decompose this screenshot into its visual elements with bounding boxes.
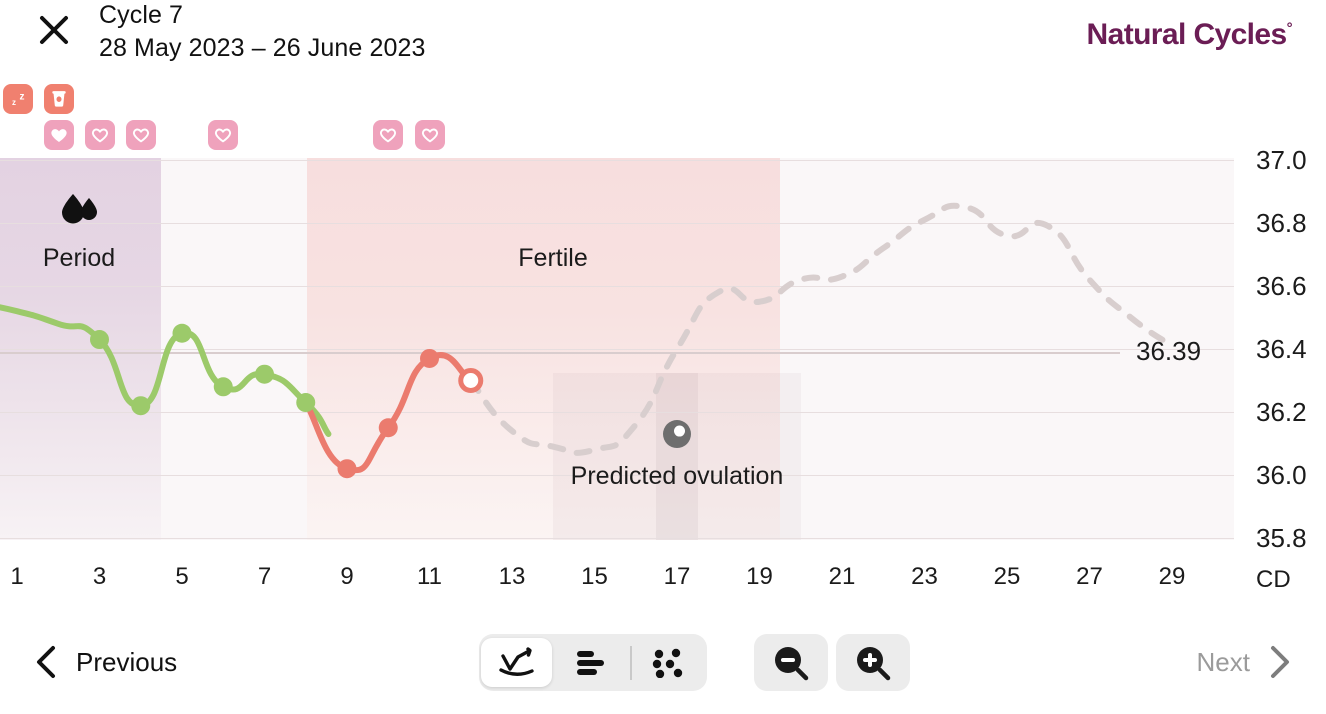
x-axis-tick: 15 [581, 563, 608, 591]
bars-view-button[interactable] [556, 638, 627, 687]
region-label-period: Period [43, 244, 115, 273]
badge-heart-outline[interactable] [373, 120, 403, 150]
x-axis-tick: 23 [911, 563, 938, 591]
data-point[interactable] [379, 418, 398, 437]
y-axis-tick: 36.2 [1256, 399, 1307, 425]
cycle-chart-screen: Cycle 7 28 May 2023 – 26 June 2023 Natur… [0, 0, 1326, 714]
badge-heart-outline[interactable] [126, 120, 156, 150]
svg-text:z: z [20, 92, 25, 103]
sleep-icon: zz [7, 88, 29, 110]
line-chart-icon [498, 646, 536, 680]
x-axis-tick: 5 [175, 563, 188, 591]
badge-alcohol[interactable] [44, 84, 74, 114]
y-axis-tick: 36.4 [1256, 336, 1307, 362]
view-mode-toggle-group [479, 634, 707, 691]
badge-heart-outline[interactable] [85, 120, 115, 150]
badge-heart-filled[interactable] [44, 120, 74, 150]
data-point[interactable] [131, 396, 150, 415]
region-label-fertile: Fertile [518, 244, 587, 273]
line-chart-view-button[interactable] [481, 638, 552, 687]
brand-degree-icon: ° [1287, 20, 1292, 37]
toolbar-divider [630, 646, 632, 680]
dots-grid-icon [651, 648, 687, 678]
cycle-date-range: 28 May 2023 – 26 June 2023 [99, 33, 425, 63]
natural-cycles-logo: Natural Cycles° [1087, 18, 1292, 52]
badge-heart-outline[interactable] [415, 120, 445, 150]
y-axis: 37.036.836.636.436.236.035.8 [1240, 158, 1326, 598]
predicted-ovulation-marker[interactable] [663, 420, 691, 448]
zoom-in-icon [853, 643, 893, 683]
bars-list-icon [573, 648, 611, 678]
y-axis-tick: 37.0 [1256, 147, 1307, 173]
x-axis-tick: 21 [829, 563, 856, 591]
data-point[interactable] [420, 349, 439, 368]
data-point[interactable] [255, 365, 274, 384]
heart-outline-icon [130, 124, 152, 146]
badge-heart-outline[interactable] [208, 120, 238, 150]
data-point[interactable] [461, 371, 481, 391]
x-axis-tick: 19 [746, 563, 773, 591]
data-point[interactable] [173, 324, 192, 343]
zoom-out-button[interactable] [754, 634, 828, 691]
zoom-out-icon [771, 643, 811, 683]
threshold-value-label: 36.39 [1136, 336, 1201, 367]
brand-name: Natural Cycles [1087, 18, 1287, 51]
predicted-temperature-line [471, 206, 1172, 453]
x-axis-tick: 13 [499, 563, 526, 591]
data-point[interactable] [296, 393, 315, 412]
close-button[interactable] [36, 12, 72, 48]
heart-outline-icon [89, 124, 111, 146]
x-axis-unit-label: CD [1256, 566, 1291, 594]
x-axis: 1357911131517192123252729 [0, 563, 1234, 599]
x-axis-tick: 3 [93, 563, 106, 591]
x-axis-tick: 7 [258, 563, 271, 591]
data-point[interactable] [214, 377, 233, 396]
y-axis-tick: 36.8 [1256, 210, 1307, 236]
zoom-in-button[interactable] [836, 634, 910, 691]
previous-label: Previous [76, 647, 177, 678]
zoom-controls [754, 634, 910, 691]
chevron-right-icon [1266, 645, 1292, 679]
heart-outline-icon [377, 124, 399, 146]
x-axis-tick: 25 [994, 563, 1021, 591]
x-axis-tick: 27 [1076, 563, 1103, 591]
x-axis-tick: 17 [664, 563, 691, 591]
predicted-ovulation-label: Predicted ovulation [571, 462, 784, 491]
x-axis-tick: 29 [1159, 563, 1186, 591]
previous-cycle-button[interactable]: Previous [34, 634, 177, 690]
blood-drops-icon [56, 192, 102, 229]
x-axis-tick: 11 [417, 563, 442, 591]
badge-sleep[interactable]: zz [3, 84, 33, 114]
temperature-line-follicular [0, 302, 328, 434]
data-point[interactable] [90, 330, 109, 349]
heart-outline-icon [212, 124, 234, 146]
alcohol-icon [48, 88, 70, 110]
chevron-left-icon [34, 645, 60, 679]
cycle-title: Cycle 7 [99, 0, 183, 30]
x-axis-tick: 9 [340, 563, 353, 591]
y-axis-tick: 36.0 [1256, 462, 1307, 488]
x-axis-tick: 1 [10, 563, 23, 591]
dots-view-button[interactable] [634, 638, 705, 687]
temperature-line-fertile [306, 355, 471, 470]
heart-outline-icon [419, 124, 441, 146]
svg-text:z: z [12, 98, 16, 107]
heart-filled-icon [48, 124, 70, 146]
close-icon [37, 13, 71, 47]
data-point[interactable] [338, 459, 357, 478]
y-axis-tick: 36.6 [1256, 273, 1307, 299]
y-axis-tick: 35.8 [1256, 525, 1307, 551]
temperature-chart[interactable]: PeriodFertilePredicted ovulation36.39 [0, 158, 1234, 540]
next-label: Next [1197, 647, 1250, 678]
next-cycle-button[interactable]: Next [1197, 634, 1292, 690]
